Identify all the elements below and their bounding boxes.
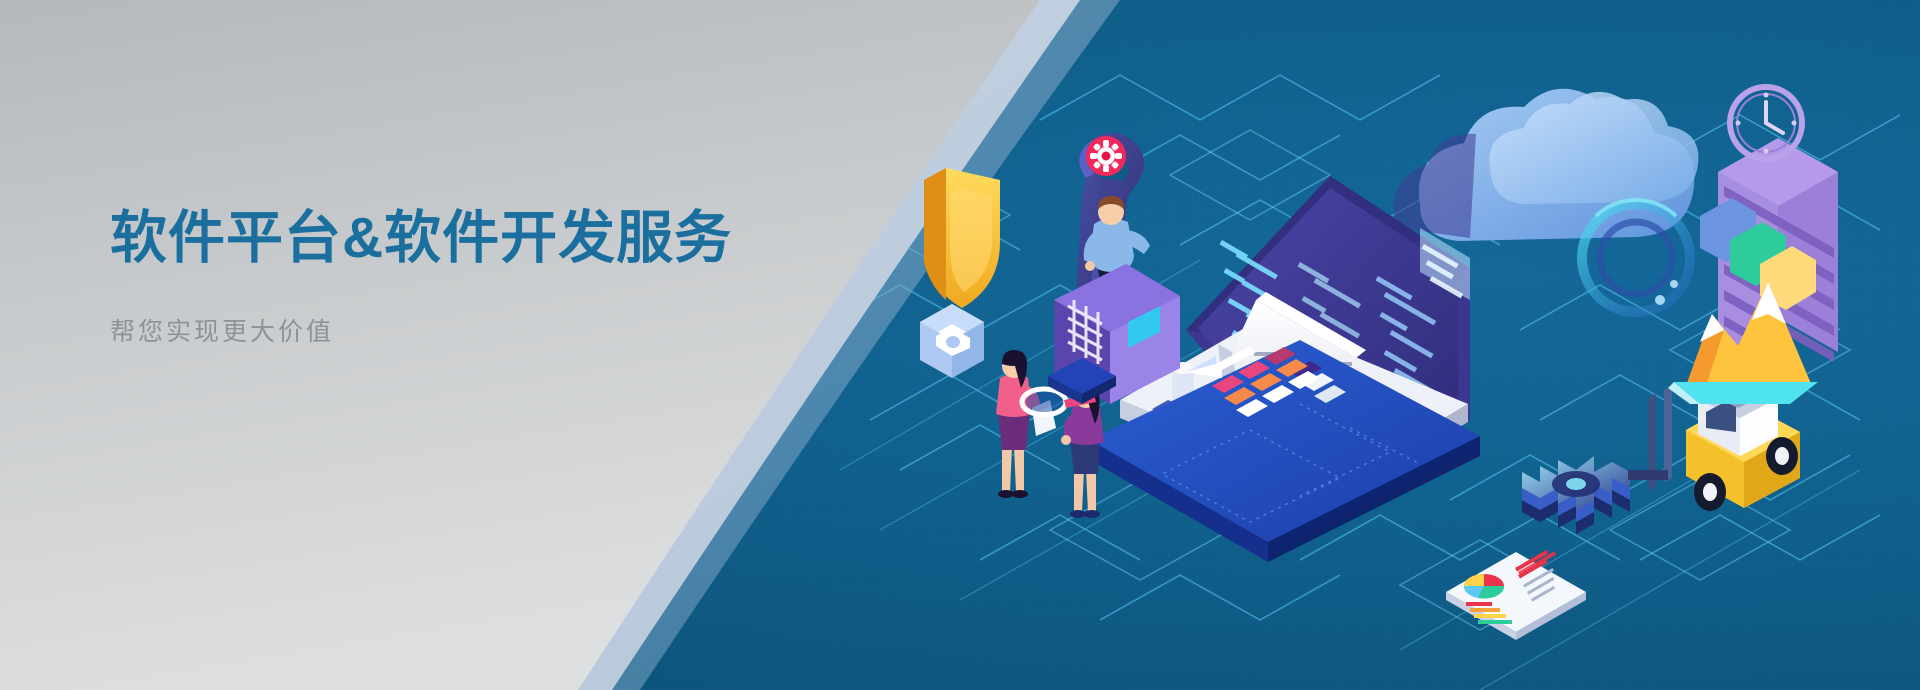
page-subtitle: 帮您实现更大价值	[110, 312, 870, 348]
shield-icon	[924, 168, 1000, 308]
news-report-card	[1446, 550, 1586, 640]
banner-text-block: 软件平台&软件开发服务 帮您实现更大价值	[110, 206, 870, 348]
gear-stack-icon	[1522, 456, 1630, 534]
camera-card-icon	[920, 304, 984, 378]
page-title: 软件平台&软件开发服务	[110, 206, 870, 272]
cloud-icon	[1394, 89, 1699, 241]
gear-badge-icon	[1086, 136, 1126, 176]
hero-banner: 软件平台&软件开发服务 帮您实现更大价值	[0, 0, 1920, 690]
woman-with-document	[996, 350, 1056, 498]
pie-chart-icon	[1464, 574, 1504, 599]
woman-with-magnifier	[1022, 380, 1104, 518]
